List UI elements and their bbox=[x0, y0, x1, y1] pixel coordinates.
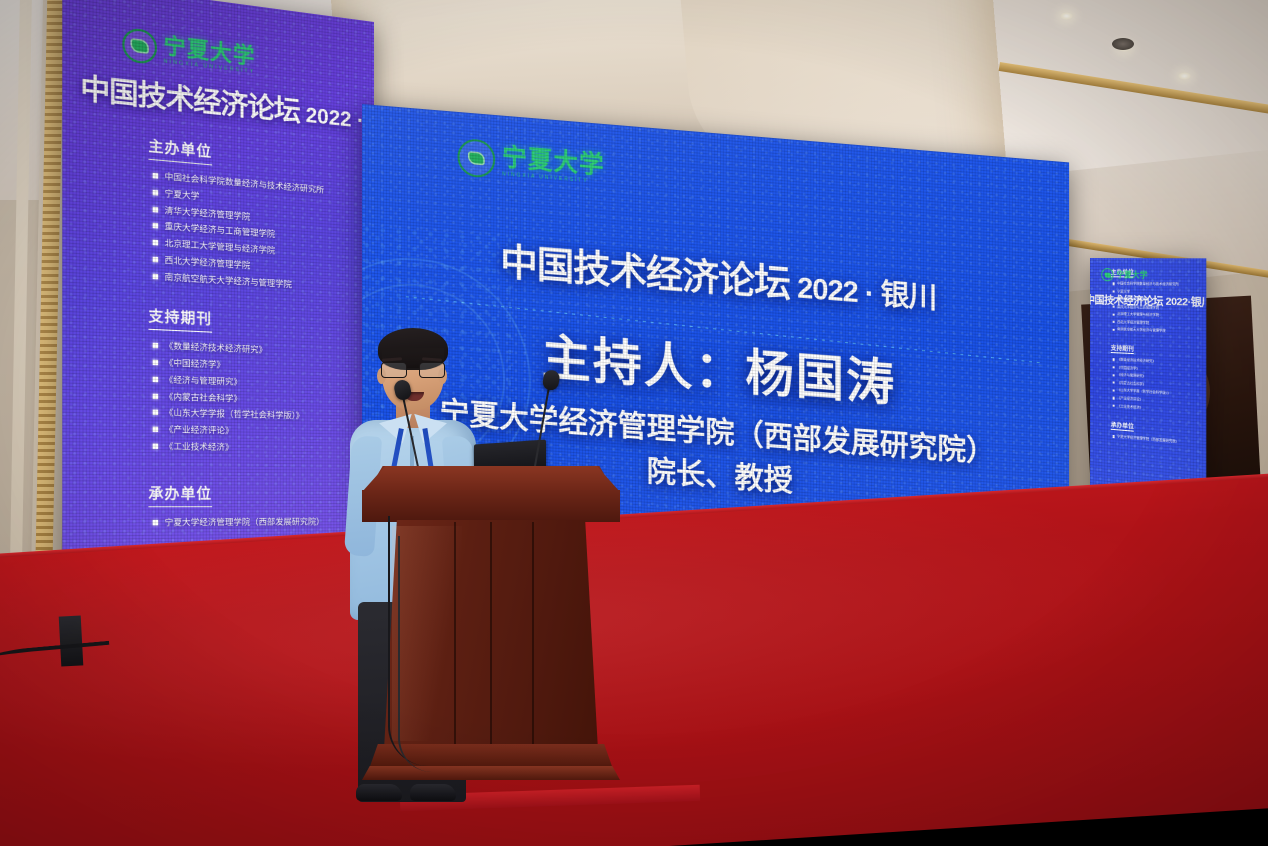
journal-list: 《数量经济技术经济研究》 《中国经济学》 《经济与管理研究》 《内蒙古社会科学》… bbox=[1113, 356, 1207, 417]
eyeglasses-icon bbox=[380, 362, 446, 379]
glasses-bridge bbox=[407, 368, 419, 370]
bullet-icon bbox=[1113, 405, 1115, 407]
podium-seam bbox=[454, 522, 456, 750]
wooden-podium bbox=[362, 466, 620, 786]
speaker-shoe-left bbox=[356, 784, 402, 801]
bullet-icon bbox=[153, 273, 158, 279]
ceiling-downlight bbox=[1060, 12, 1073, 20]
podium-plinth bbox=[362, 766, 620, 780]
host-unit-list: 宁夏大学经济管理学院（西部发展研究院） bbox=[1113, 433, 1207, 449]
university-name-cn: 宁夏大学 bbox=[1116, 269, 1147, 281]
bullet-icon bbox=[153, 443, 158, 448]
list-item: 《工业技术经济》 bbox=[153, 438, 361, 457]
journal-list: 《数量经济技术经济研究》 《中国经济学》 《经济与管理研究》 《内蒙古社会科学》… bbox=[153, 338, 361, 458]
bullet-icon bbox=[153, 519, 158, 524]
bullet-icon bbox=[153, 173, 158, 179]
bullet-icon bbox=[153, 223, 158, 229]
ceiling-downlight bbox=[1178, 72, 1191, 80]
bullet-icon bbox=[153, 190, 158, 196]
lens-right bbox=[419, 362, 445, 378]
ningxia-university-emblem-icon bbox=[122, 27, 157, 65]
host-unit-list: 宁夏大学经济管理学院（西部发展研究院） bbox=[153, 514, 361, 531]
ceiling-speaker-grill bbox=[1112, 38, 1134, 50]
mic-cable bbox=[398, 536, 432, 772]
list-item: 宁夏大学经济管理学院（西部发展研究院） bbox=[153, 514, 361, 531]
bullet-icon bbox=[153, 240, 158, 246]
organizer-list: 中国社会科学院数量经济与技术经济研究所 宁夏大学 清华大学经济管理学院 重庆大学… bbox=[153, 168, 361, 297]
forum-title-center: 中国技术经济论坛 2022 · 银川 bbox=[500, 231, 936, 319]
speaker-shoe-right bbox=[410, 784, 456, 801]
bullet-icon bbox=[1113, 397, 1115, 399]
bullet-icon bbox=[1113, 382, 1115, 384]
bullet-icon bbox=[153, 360, 158, 366]
university-logo-right: 宁夏大学 bbox=[1101, 268, 1147, 282]
bullet-icon bbox=[1113, 321, 1115, 323]
conference-hall-scene: 宁夏大学 NINGXIA UNIVERSITY 中国技术经济论坛 2022 · … bbox=[0, 0, 1268, 846]
bullet-icon bbox=[153, 410, 158, 415]
section-heading-journals: 支持期刊 bbox=[148, 306, 212, 333]
lens-left bbox=[381, 362, 407, 378]
forum-title-right: 中国技术经济论坛 2022·银川 bbox=[1090, 292, 1206, 310]
list-item: 宁夏大学经济管理学院（西部发展研究院） bbox=[1113, 433, 1207, 449]
ningxia-university-emblem-icon bbox=[458, 138, 496, 179]
bullet-icon bbox=[1113, 313, 1115, 315]
bullet-icon bbox=[153, 376, 158, 381]
host-name-line: 主持人：杨国涛 bbox=[542, 318, 896, 415]
university-logo-center: 宁夏大学 NINGXIA UNIVERSITY bbox=[458, 138, 605, 188]
bullet-icon bbox=[1113, 435, 1115, 437]
bullet-icon bbox=[1113, 283, 1115, 285]
bullet-icon bbox=[153, 343, 158, 349]
ningxia-university-emblem-icon bbox=[1101, 268, 1113, 281]
bullet-icon bbox=[1113, 374, 1115, 376]
bullet-icon bbox=[1113, 329, 1115, 331]
podium-seam bbox=[490, 522, 492, 750]
bullet-icon bbox=[1113, 389, 1115, 391]
bullet-icon bbox=[153, 393, 158, 398]
bullet-icon bbox=[153, 427, 158, 432]
section-heading-host-unit: 承办单位 bbox=[148, 482, 212, 506]
section-heading-journals: 支持期刊 bbox=[1111, 343, 1134, 354]
podium-seam bbox=[532, 522, 534, 750]
podium-top-surface bbox=[362, 466, 620, 492]
bullet-icon bbox=[153, 206, 158, 212]
bullet-icon bbox=[153, 256, 158, 262]
section-heading-organizers: 主办单位 bbox=[148, 135, 212, 165]
bullet-icon bbox=[1113, 359, 1115, 361]
section-heading-host-unit: 承办单位 bbox=[1111, 420, 1134, 432]
bullet-icon bbox=[1113, 366, 1115, 368]
